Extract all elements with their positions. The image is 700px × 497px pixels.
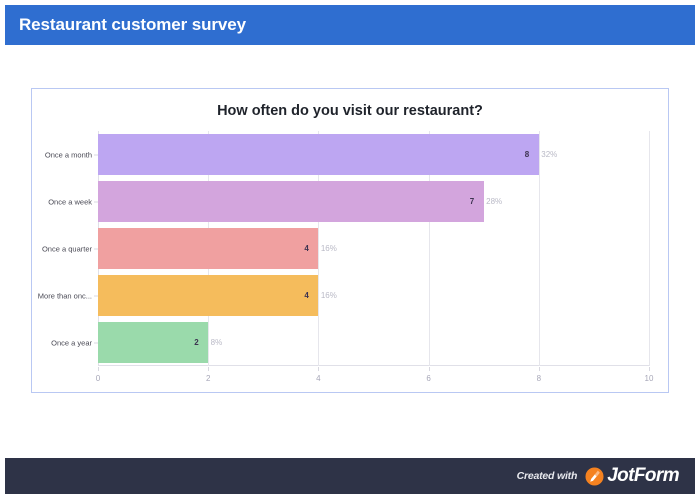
bar-percent-label: 16% <box>321 244 337 253</box>
x-axis-tick <box>208 367 209 371</box>
x-axis-tick <box>539 367 540 371</box>
x-axis-tick <box>649 367 650 371</box>
page-title: Restaurant customer survey <box>5 15 246 35</box>
bar-value-label: 7 <box>470 197 474 206</box>
bar[interactable] <box>98 322 208 363</box>
y-axis-category-label: Once a week <box>34 197 98 206</box>
bar-percent-label: 16% <box>321 291 337 300</box>
x-axis-line <box>98 365 649 366</box>
jotform-pencil-circle-icon <box>585 467 604 486</box>
bar[interactable] <box>98 181 484 222</box>
bar-percent-label: 8% <box>211 338 223 347</box>
x-axis-tick <box>318 367 319 371</box>
x-axis-tick-label: 8 <box>537 374 541 383</box>
app-footer: Created with JotForm <box>5 458 695 494</box>
bar-row[interactable]: 416% <box>98 275 649 316</box>
x-axis-tick-label: 6 <box>426 374 430 383</box>
bar[interactable] <box>98 228 318 269</box>
plot-area: 832%728%416%416%28% <box>98 131 649 366</box>
bar-value-label: 8 <box>525 150 529 159</box>
bar[interactable] <box>98 275 318 316</box>
x-axis-tick-label: 10 <box>645 374 654 383</box>
bar-value-label: 2 <box>194 338 198 347</box>
content-area: How often do you visit our restaurant? O… <box>0 45 700 457</box>
x-axis-tick-label: 4 <box>316 374 320 383</box>
bar-row[interactable]: 728% <box>98 181 649 222</box>
chart-title: How often do you visit our restaurant? <box>32 103 668 119</box>
bar-row[interactable]: 832% <box>98 134 649 175</box>
bar-percent-label: 32% <box>541 150 557 159</box>
x-axis-tick <box>429 367 430 371</box>
chart-card: How often do you visit our restaurant? O… <box>31 88 669 393</box>
x-axis-tick-label: 2 <box>206 374 210 383</box>
x-axis-tick-label: 0 <box>96 374 100 383</box>
jotform-wordmark: JotForm <box>607 465 679 487</box>
app-header: Restaurant customer survey <box>5 5 695 45</box>
bar-value-label: 4 <box>304 291 308 300</box>
bar-value-label: 4 <box>304 244 308 253</box>
bar[interactable] <box>98 134 539 175</box>
y-axis-category-label: More than onc... <box>34 291 98 300</box>
y-axis-category-label: Once a quarter <box>34 244 98 253</box>
x-axis-tick <box>98 367 99 371</box>
y-axis-category-label: Once a month <box>34 150 98 159</box>
bar-row[interactable]: 416% <box>98 228 649 269</box>
bar-percent-label: 28% <box>486 197 502 206</box>
gridline <box>649 131 650 366</box>
chart-plot-wrapper: Once a monthOnce a weekOnce a quarterMor… <box>32 131 668 391</box>
x-axis-labels: 0246810 <box>98 367 649 387</box>
y-axis-category-label: Once a year <box>34 338 98 347</box>
y-axis-labels: Once a monthOnce a weekOnce a quarterMor… <box>32 131 98 366</box>
created-with-label: Created with <box>517 470 578 482</box>
jotform-logo[interactable]: JotForm <box>585 465 679 487</box>
bar-row[interactable]: 28% <box>98 322 649 363</box>
